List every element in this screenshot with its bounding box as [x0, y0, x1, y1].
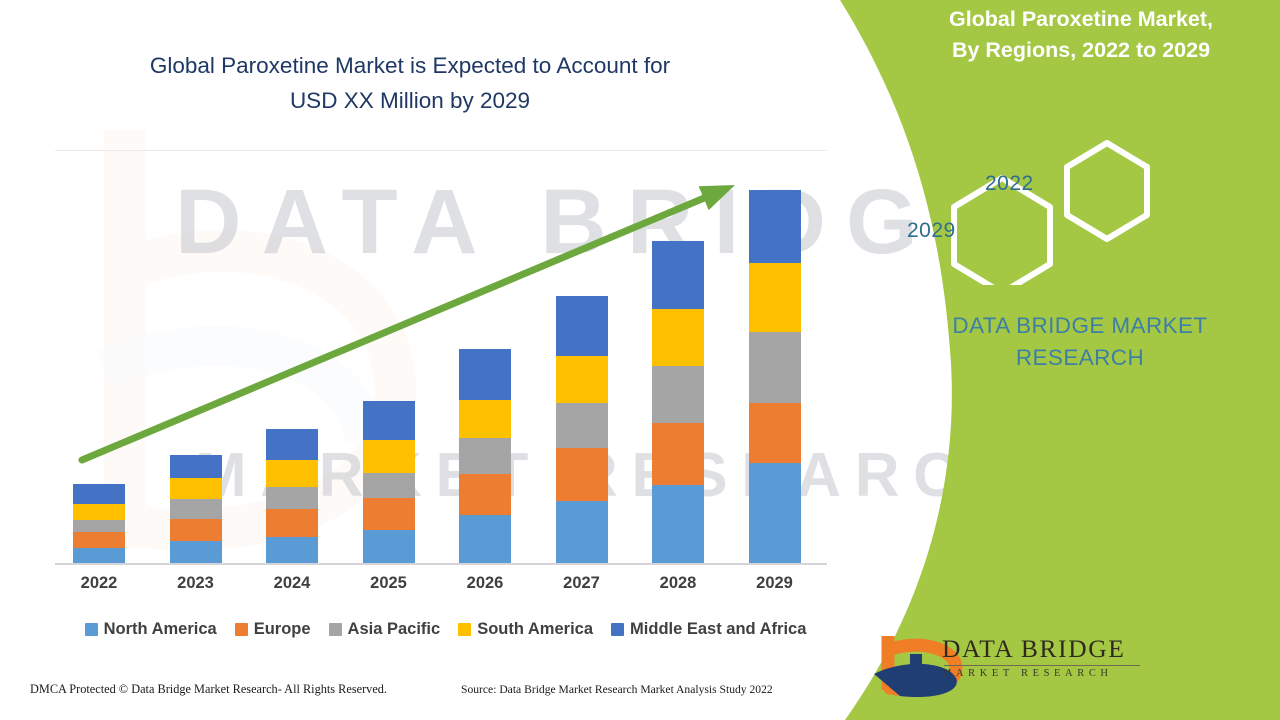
- bar-2023: [170, 455, 222, 563]
- legend-item[interactable]: North America: [85, 620, 217, 639]
- data-bridge-logo-text: DATA BRIDGE MARKET RESEARCH: [942, 634, 1172, 679]
- infographic-canvas: DATA BRIDGE MARKET RESEARCH Global Parox…: [0, 0, 1280, 720]
- bar-segment: [170, 455, 222, 478]
- bar-segment: [363, 440, 415, 473]
- bar-segment: [266, 460, 318, 487]
- panel-title: Global Paroxetine Market, By Regions, 20…: [906, 4, 1256, 66]
- bar-segment: [652, 366, 704, 423]
- bar-segment: [749, 263, 801, 332]
- legend-item[interactable]: South America: [458, 620, 593, 639]
- bar-segment: [73, 520, 125, 532]
- bar-segment: [652, 423, 704, 485]
- x-axis-label-2023: 2023: [156, 574, 236, 593]
- page-title: Global Paroxetine Market is Expected to …: [60, 48, 760, 118]
- hexagon-badges: [940, 135, 1240, 285]
- page-title-line-2: USD XX Million by 2029: [60, 83, 760, 118]
- bar-segment: [459, 474, 511, 515]
- x-axis-label-2024: 2024: [252, 574, 332, 593]
- bar-2022: [73, 484, 125, 563]
- bar-segment: [556, 501, 608, 563]
- bar-segment: [459, 515, 511, 563]
- bar-segment: [459, 349, 511, 400]
- bar-segment: [266, 487, 318, 509]
- legend-label: South America: [477, 620, 593, 639]
- legend-item[interactable]: Middle East and Africa: [611, 620, 806, 639]
- chart-legend: North AmericaEuropeAsia PacificSouth Ame…: [58, 616, 833, 642]
- plot-top-rule: [55, 150, 827, 151]
- bar-segment: [652, 241, 704, 309]
- green-panel-content: Global Paroxetine Market, By Regions, 20…: [810, 0, 1280, 720]
- bar-segment: [556, 296, 608, 356]
- logo-divider: [944, 665, 1140, 666]
- page-title-line-1: Global Paroxetine Market is Expected to …: [60, 48, 760, 83]
- bar-2027: [556, 296, 608, 563]
- bar-segment: [363, 401, 415, 440]
- bar-segment: [556, 403, 608, 448]
- bar-2029: [749, 190, 801, 563]
- legend-item[interactable]: Europe: [235, 620, 311, 639]
- panel-brand: DATA BRIDGE MARKET RESEARCH: [915, 310, 1245, 374]
- bar-segment: [73, 504, 125, 520]
- hexagon-2022-shape: [1067, 143, 1147, 239]
- logo-main-text: DATA BRIDGE: [942, 634, 1172, 664]
- bar-segment: [459, 400, 511, 438]
- logo-sub-text: MARKET RESEARCH: [942, 668, 1172, 679]
- x-axis-label-2027: 2027: [542, 574, 622, 593]
- bar-2026: [459, 349, 511, 563]
- panel-title-line-1: Global Paroxetine Market,: [906, 4, 1256, 35]
- bar-2028: [652, 241, 704, 563]
- footer-copyright: DMCA Protected © Data Bridge Market Rese…: [30, 682, 387, 697]
- legend-swatch-icon: [611, 623, 624, 636]
- bar-segment: [652, 485, 704, 563]
- x-axis-label-2025: 2025: [349, 574, 429, 593]
- legend-swatch-icon: [458, 623, 471, 636]
- bar-segment: [170, 499, 222, 519]
- footer-source: Source: Data Bridge Market Research Mark…: [461, 683, 773, 696]
- bar-segment: [363, 473, 415, 498]
- x-axis-label-2022: 2022: [59, 574, 139, 593]
- legend-label: Middle East and Africa: [630, 620, 806, 639]
- legend-item[interactable]: Asia Pacific: [329, 620, 441, 639]
- bar-segment: [556, 448, 608, 501]
- bar-segment: [170, 478, 222, 499]
- x-axis-label-2029: 2029: [735, 574, 815, 593]
- bar-segment: [266, 509, 318, 537]
- panel-brand-line-1: DATA BRIDGE MARKET: [915, 310, 1245, 342]
- bar-2025: [363, 401, 415, 563]
- bar-segment: [652, 309, 704, 366]
- panel-brand-line-2: RESEARCH: [915, 342, 1245, 374]
- x-axis-label-2028: 2028: [638, 574, 718, 593]
- bar-segment: [266, 537, 318, 563]
- footer: DMCA Protected © Data Bridge Market Rese…: [0, 678, 860, 708]
- bar-segment: [266, 429, 318, 460]
- bar-segment: [749, 190, 801, 263]
- bar-segment: [363, 498, 415, 530]
- bar-segment: [170, 519, 222, 541]
- bar-segment: [363, 530, 415, 563]
- hexagon-2022-label: 2022: [985, 172, 1034, 196]
- bar-segment: [459, 438, 511, 474]
- legend-swatch-icon: [85, 623, 98, 636]
- legend-label: Europe: [254, 620, 311, 639]
- legend-label: Asia Pacific: [348, 620, 441, 639]
- bar-segment: [73, 484, 125, 504]
- bar-segment: [749, 463, 801, 563]
- bar-segment: [170, 541, 222, 563]
- bar-segment: [749, 332, 801, 403]
- bar-segment: [73, 532, 125, 548]
- legend-swatch-icon: [235, 623, 248, 636]
- panel-title-line-2: By Regions, 2022 to 2029: [906, 35, 1256, 66]
- bar-segment: [73, 548, 125, 563]
- bar-2024: [266, 429, 318, 563]
- bar-segment: [556, 356, 608, 403]
- hexagon-2029-label: 2029: [907, 219, 956, 243]
- bar-chart-plot-area: [55, 150, 830, 565]
- bar-segment: [749, 403, 801, 463]
- x-axis-label-2026: 2026: [445, 574, 525, 593]
- legend-label: North America: [104, 620, 217, 639]
- x-axis-line: [55, 563, 827, 565]
- legend-swatch-icon: [329, 623, 342, 636]
- x-axis-labels: 20222023202420252026202720282029: [55, 574, 830, 600]
